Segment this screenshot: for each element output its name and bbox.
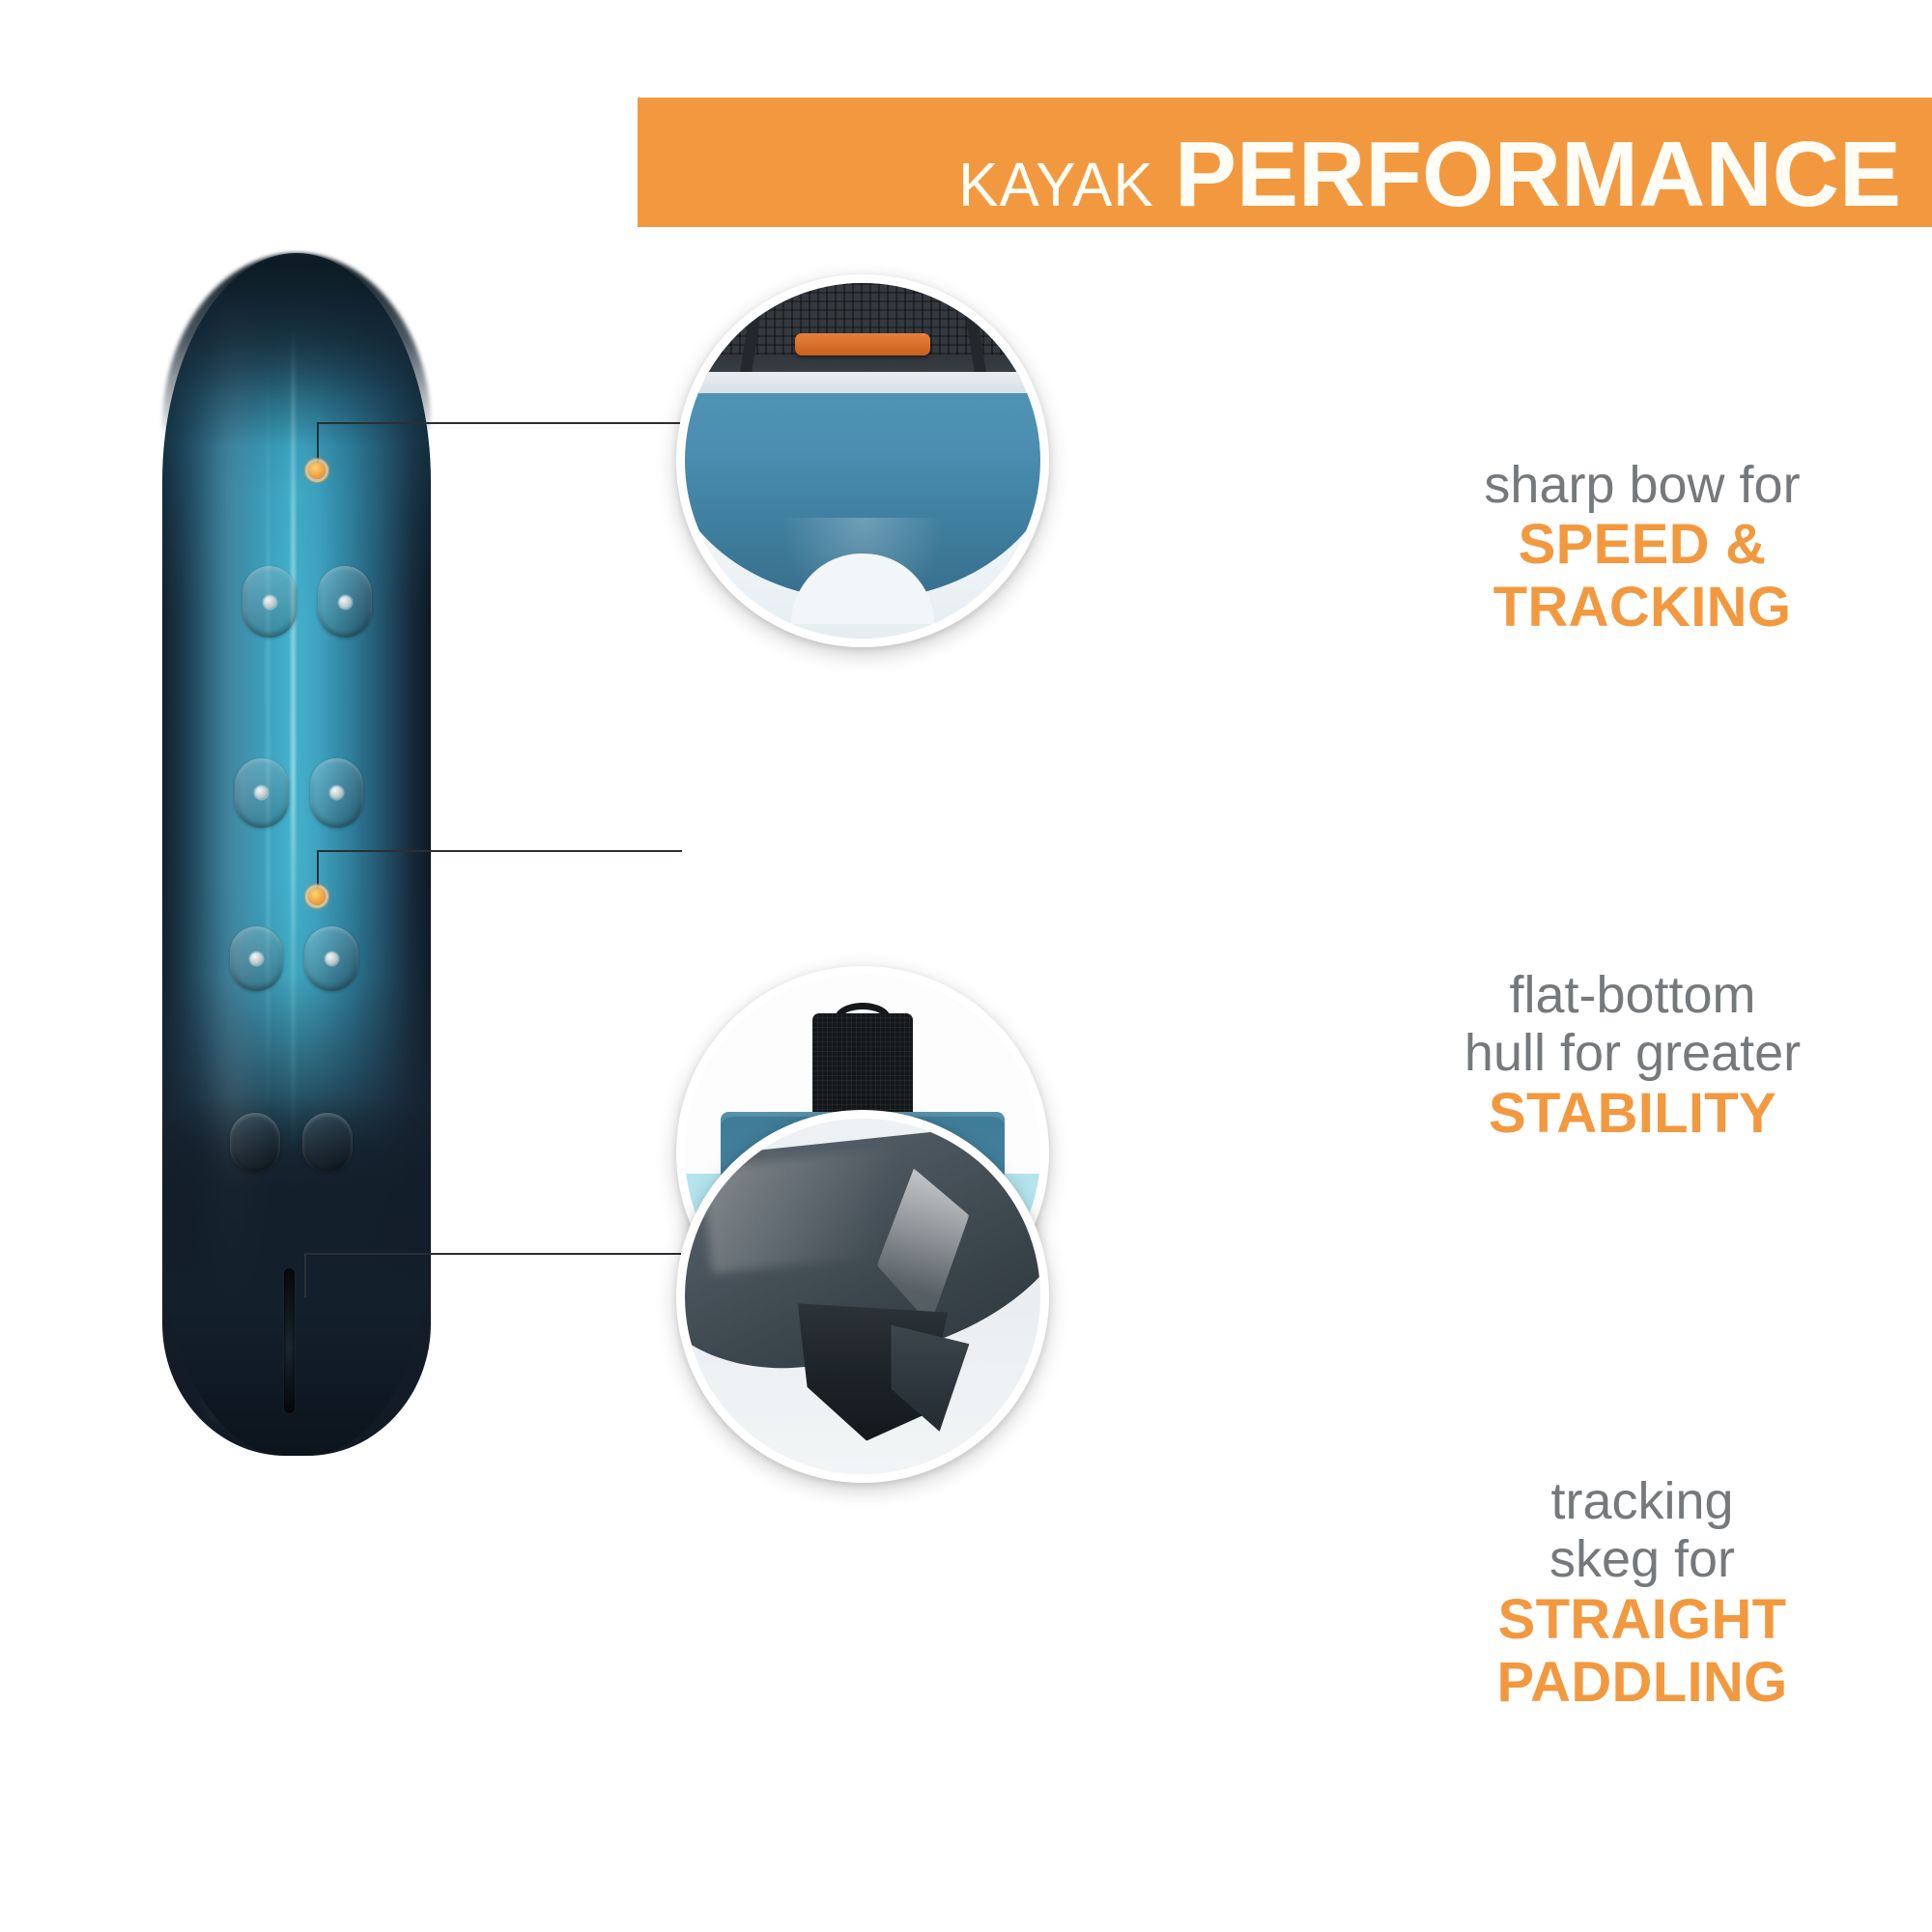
kayak-footwell-pad: [230, 1113, 281, 1173]
skeg-detail-photo: [676, 1110, 1049, 1483]
kayak-footwell-pad: [310, 758, 364, 828]
kayak-bow-cap: [162, 253, 431, 445]
kayak-footwell-pad: [242, 566, 297, 639]
callout-skeg-line3: STRAIGHT: [1391, 1589, 1893, 1652]
bow-detail-photo: [676, 274, 1049, 647]
kayak-top-view-image: [162, 253, 431, 1456]
leader-line-bow-horizontal: [317, 422, 682, 424]
kayak-footwell-pad: [304, 926, 358, 991]
scupper-plug-icon: [250, 952, 263, 965]
header-banner: KAYAK PERFORMANCE: [638, 98, 1932, 227]
callout-skeg-line2: skeg for: [1391, 1530, 1893, 1588]
leader-line-skeg-vertical: [304, 1253, 306, 1297]
callout-bow-line3: TRACKING: [1391, 577, 1893, 639]
page-title: KAYAK PERFORMANCE: [955, 128, 1901, 221]
orange-carry-handle: [795, 333, 930, 356]
kayak-footwell-pad: [235, 758, 289, 828]
callout-bow-line1: sharp bow for: [1391, 456, 1893, 514]
kayak-skeg-slot: [284, 1268, 295, 1413]
leader-line-skeg-horizontal: [304, 1253, 683, 1255]
callout-bow-line2: SPEED &: [1391, 514, 1893, 577]
kayak-seat: [812, 1013, 912, 1123]
leader-line-hull-horizontal: [317, 850, 682, 852]
scupper-plug-icon: [255, 786, 268, 799]
marker-dot-hull: [308, 888, 326, 905]
scupper-plug-icon: [330, 786, 343, 799]
kayak-center-spine-highlight: [291, 326, 296, 1384]
callout-skeg-line4: PADDLING: [1391, 1652, 1893, 1715]
marker-dot-bow: [308, 462, 326, 479]
callout-skeg-line1: tracking: [1391, 1472, 1893, 1530]
title-word-performance: PERFORMANCE: [1175, 128, 1901, 221]
callout-text-bow: sharp bow for SPEED & TRACKING: [1391, 456, 1893, 639]
scupper-plug-icon: [264, 596, 276, 609]
callout-text-hull: flat-bottom hull for greater STABILITY: [1372, 966, 1893, 1146]
callout-hull-line3: STABILITY: [1372, 1083, 1893, 1146]
callout-text-skeg: tracking skeg for STRAIGHT PADDLING: [1391, 1472, 1893, 1715]
scupper-plug-icon: [326, 952, 338, 965]
title-word-kayak: KAYAK: [958, 154, 1154, 215]
kayak-footwell-pad: [302, 1113, 354, 1173]
callout-hull-line2: hull for greater: [1372, 1024, 1893, 1082]
callout-hull-line1: flat-bottom: [1372, 966, 1893, 1024]
kayak-footwell-pad: [230, 926, 284, 991]
kayak-footwell-pad: [318, 566, 372, 639]
scupper-plug-icon: [339, 596, 352, 609]
